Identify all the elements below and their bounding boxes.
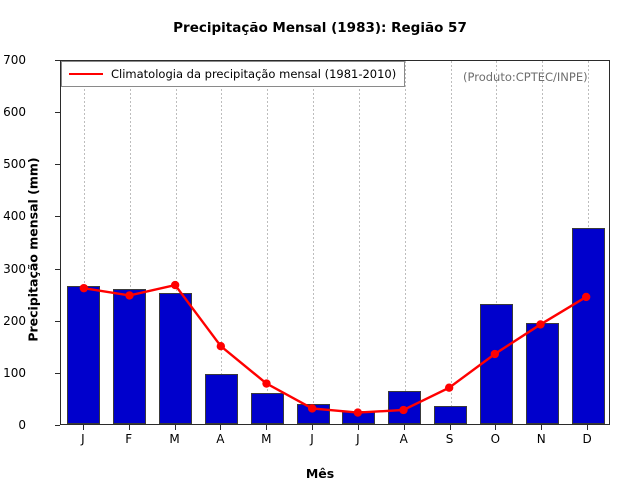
x-tick-mark-6 bbox=[358, 425, 359, 430]
x-tick-mark-5 bbox=[312, 425, 313, 430]
legend-label-climatologia: Climatologia da precipitação mensal (198… bbox=[111, 67, 396, 81]
x-tick-label-0: J bbox=[63, 432, 103, 446]
climatology-marker-j-0 bbox=[80, 284, 88, 292]
x-tick-label-7: A bbox=[384, 432, 424, 446]
y-tick-mark-700 bbox=[55, 60, 60, 61]
y-tick-label-100: 100 bbox=[0, 366, 26, 380]
y-tick-label-500: 500 bbox=[0, 157, 26, 171]
y-tick-mark-0 bbox=[55, 425, 60, 426]
x-tick-mark-8 bbox=[450, 425, 451, 430]
x-tick-label-8: S bbox=[430, 432, 470, 446]
x-tick-mark-11 bbox=[587, 425, 588, 430]
climatology-marker-a-7 bbox=[399, 406, 407, 414]
climatology-marker-j-5 bbox=[308, 404, 316, 412]
x-tick-label-10: N bbox=[521, 432, 561, 446]
x-tick-label-11: D bbox=[567, 432, 607, 446]
plot-area bbox=[60, 60, 610, 425]
x-tick-label-1: F bbox=[109, 432, 149, 446]
x-tick-mark-9 bbox=[495, 425, 496, 430]
producer-credit: (Produto:CPTEC/INPE) bbox=[463, 70, 588, 84]
climatology-marker-a-3 bbox=[217, 342, 225, 350]
climatology-marker-s-8 bbox=[445, 384, 453, 392]
x-tick-label-5: J bbox=[292, 432, 332, 446]
x-tick-mark-0 bbox=[83, 425, 84, 430]
y-tick-label-400: 400 bbox=[0, 209, 26, 223]
x-tick-mark-3 bbox=[220, 425, 221, 430]
y-tick-mark-400 bbox=[55, 216, 60, 217]
climatology-marker-j-6 bbox=[354, 408, 362, 416]
y-axis-title: Precipitação mensal (mm) bbox=[26, 120, 41, 380]
x-tick-mark-4 bbox=[266, 425, 267, 430]
x-axis-title: Mês bbox=[0, 466, 640, 481]
y-tick-mark-300 bbox=[55, 269, 60, 270]
x-tick-label-4: M bbox=[246, 432, 286, 446]
y-tick-label-300: 300 bbox=[0, 262, 26, 276]
climatology-marker-n-10 bbox=[536, 320, 544, 328]
x-tick-label-3: A bbox=[200, 432, 240, 446]
climatology-marker-f-1 bbox=[125, 291, 133, 299]
y-tick-mark-600 bbox=[55, 112, 60, 113]
y-tick-label-700: 700 bbox=[0, 53, 26, 67]
x-tick-label-2: M bbox=[155, 432, 195, 446]
x-tick-label-6: J bbox=[338, 432, 378, 446]
y-tick-mark-100 bbox=[55, 373, 60, 374]
climatology-marker-o-9 bbox=[491, 350, 499, 358]
y-tick-label-200: 200 bbox=[0, 314, 26, 328]
climatology-marker-d-11 bbox=[582, 293, 590, 301]
climatology-marker-m-2 bbox=[171, 281, 179, 289]
climatology-polyline bbox=[84, 285, 586, 413]
y-tick-mark-200 bbox=[55, 321, 60, 322]
climatology-line-series bbox=[61, 61, 609, 424]
x-tick-mark-7 bbox=[404, 425, 405, 430]
chart-title: Precipitação Mensal (1983): Região 57 bbox=[0, 20, 640, 36]
x-tick-label-9: O bbox=[475, 432, 515, 446]
x-tick-mark-1 bbox=[129, 425, 130, 430]
y-tick-label-0: 0 bbox=[0, 418, 26, 432]
chart-figure: Precipitação Mensal (1983): Região 57 01… bbox=[0, 0, 640, 500]
y-tick-mark-500 bbox=[55, 164, 60, 165]
chart-legend: Climatologia da precipitação mensal (198… bbox=[61, 61, 405, 87]
x-tick-mark-2 bbox=[175, 425, 176, 430]
legend-line-swatch-icon bbox=[69, 73, 103, 75]
x-tick-mark-10 bbox=[541, 425, 542, 430]
y-tick-label-600: 600 bbox=[0, 105, 26, 119]
climatology-marker-m-4 bbox=[262, 379, 270, 387]
